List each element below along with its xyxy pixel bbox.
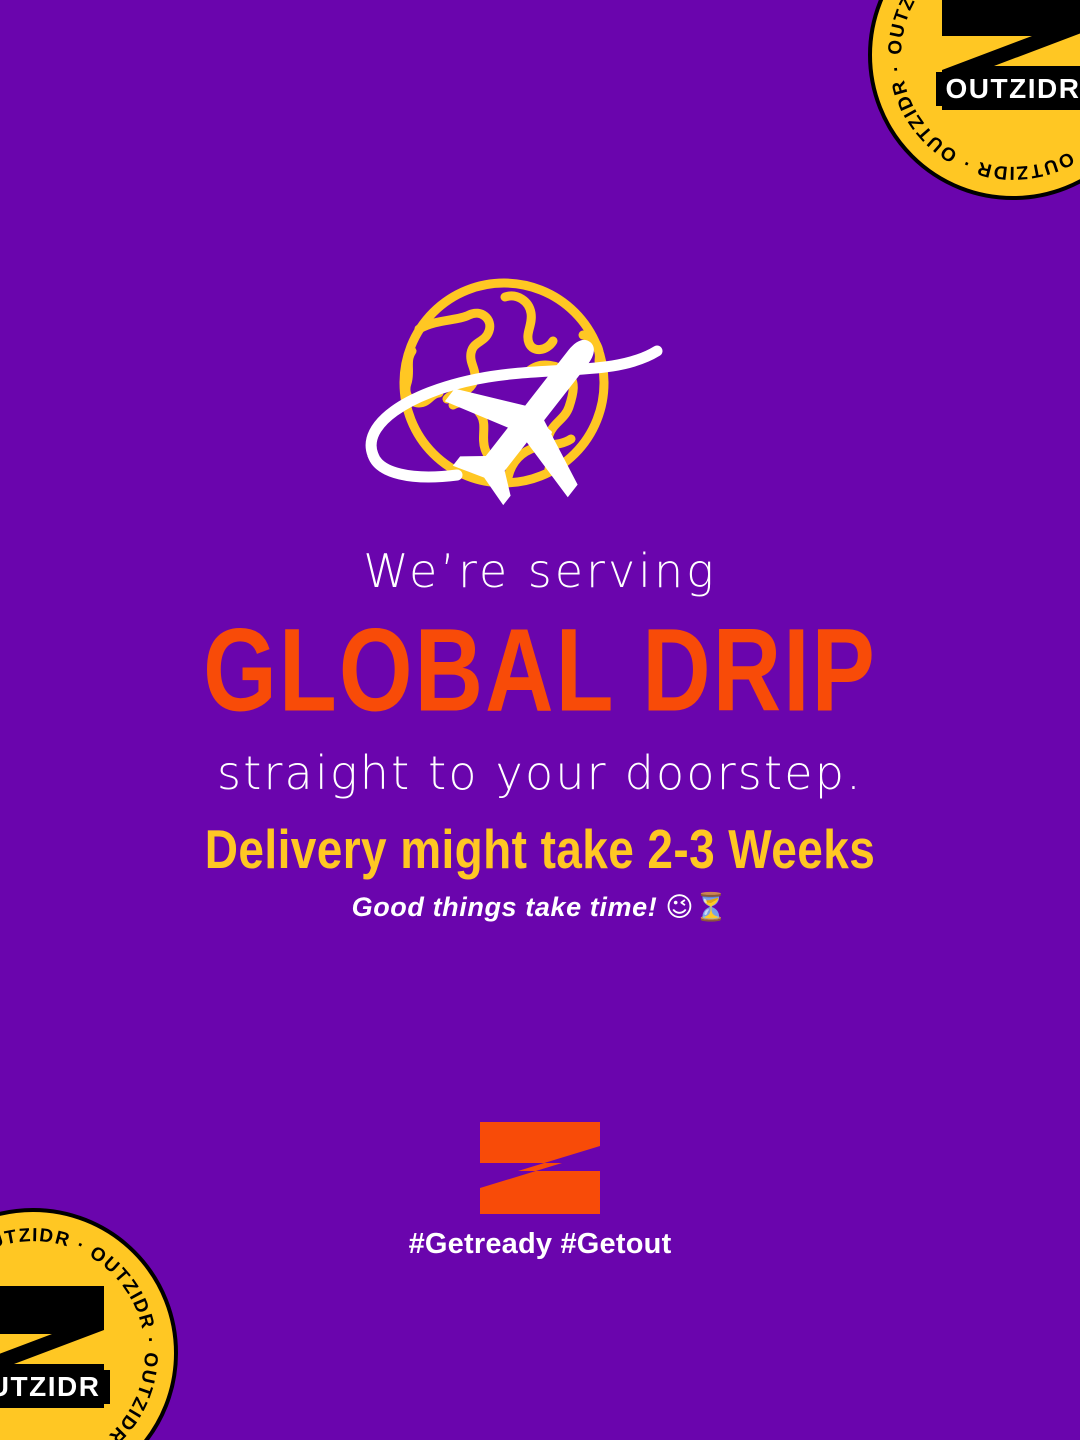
- badge-core-word: OUTZIDR: [946, 73, 1080, 104]
- promo-poster: OUTZIDR · OUTZIDR · OUTZIDR · OUTZIDR · …: [0, 0, 1080, 1440]
- globe-with-airplane-icon: [357, 275, 707, 507]
- delivery-notice-block: Delivery might take 2-3 Weeks Good thing…: [0, 822, 1080, 921]
- outzidr-sticker-top-right: OUTZIDR · OUTZIDR · OUTZIDR · OUTZIDR · …: [868, 0, 1080, 200]
- headline-line-2: GLOBAL DRIP: [0, 612, 1080, 730]
- badge-core-z-logo-top-right: OUTZIDR: [928, 0, 1080, 130]
- outzidr-sticker-bottom-left: OUTZIDR · OUTZIDR · OUTZIDR · OUTZIDR · …: [0, 1208, 178, 1440]
- delivery-subnote-text: Good things take time!: [352, 892, 658, 922]
- delivery-subnote: Good things take time! 😉⏳: [0, 894, 1080, 921]
- headline-line-1: We’re serving: [0, 548, 1080, 594]
- headline-block: We’re serving GLOBAL DRIP straight to yo…: [0, 548, 1080, 796]
- hourglass-icon: ⏳: [694, 892, 728, 923]
- headline-line-3: straight to your doorstep.: [0, 750, 1080, 796]
- delivery-notice: Delivery might take 2-3 Weeks: [0, 822, 1080, 876]
- badge-core-z-logo-bottom-left: OUTZIDR: [0, 1278, 118, 1428]
- winking-face-icon: 😉: [665, 892, 694, 923]
- z-logo: [478, 1122, 602, 1214]
- badge-core-word: OUTZIDR: [0, 1371, 100, 1402]
